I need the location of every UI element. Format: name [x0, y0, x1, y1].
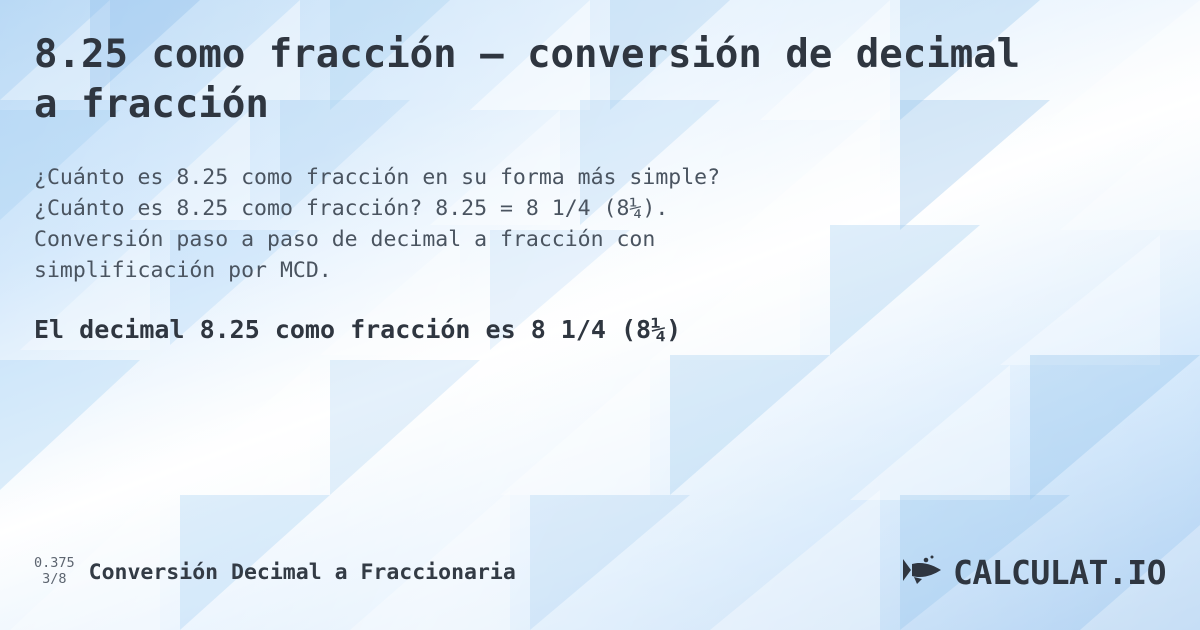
- answer-statement: El decimal 8.25 como fracción es 8 1/4 (…: [34, 315, 1166, 344]
- fraction-example-badge: 0.375 3/8: [34, 556, 75, 587]
- description-line-3: Conversión paso a paso de decimal a frac…: [34, 224, 1054, 255]
- footer-label: Conversión Decimal a Fraccionaria: [89, 560, 516, 585]
- card-footer: 0.375 3/8 Conversión Decimal a Fracciona…: [34, 550, 1166, 594]
- brand-name: CALCULAT.IO: [953, 553, 1166, 592]
- fraction-badge-denominator: 3/8: [42, 572, 66, 588]
- card-content: 8.25 como fracción – conversión de decim…: [34, 0, 1166, 630]
- footer-left-group: 0.375 3/8 Conversión Decimal a Fracciona…: [34, 550, 516, 594]
- fraction-badge-numerator: 0.375: [34, 556, 75, 572]
- page-description: ¿Cuánto es 8.25 como fracción en su form…: [34, 162, 1054, 287]
- description-line-4: simplificación por MCD.: [34, 255, 1054, 286]
- page-title: 8.25 como fracción – conversión de decim…: [34, 0, 1064, 130]
- description-line-1: ¿Cuánto es 8.25 como fracción en su form…: [34, 162, 1054, 193]
- description-line-2: ¿Cuánto es 8.25 como fracción? 8.25 = 8 …: [34, 193, 1054, 224]
- share-card: 8.25 como fracción – conversión de decim…: [0, 0, 1200, 630]
- brand-logo: CALCULAT.IO: [901, 548, 1166, 596]
- rocket-icon: [901, 553, 945, 591]
